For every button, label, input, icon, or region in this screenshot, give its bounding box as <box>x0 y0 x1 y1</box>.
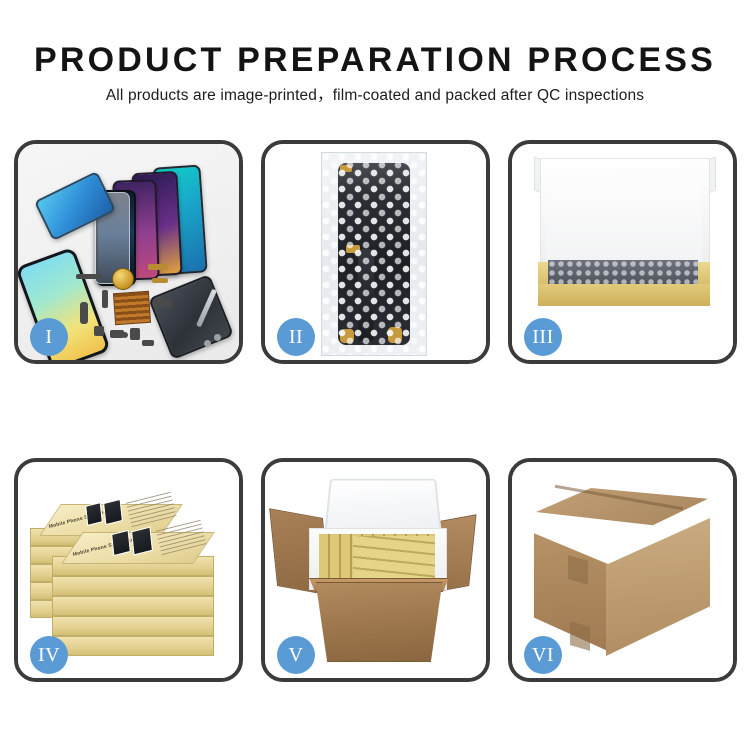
chip-array-illustration <box>113 291 151 325</box>
page-subtitle: All products are image-printed，film-coat… <box>0 79 750 105</box>
carton-right-face <box>606 518 710 656</box>
carton-tape-patch <box>570 621 590 651</box>
bubble-wrap-bag-illustration <box>321 152 427 356</box>
packed-boxes-illustration <box>353 536 435 578</box>
speaker-component-illustration <box>112 268 134 290</box>
foam-sheet-illustration <box>546 184 702 262</box>
process-step-panel-2: II <box>261 140 490 364</box>
step-badge-5: V <box>277 636 315 674</box>
step-badge-4: IV <box>30 636 68 674</box>
process-step-panel-4: Mobile Phone Spare Parts Mobile Phone Sp… <box>14 458 243 682</box>
carton-body-illustration <box>307 582 451 662</box>
stacked-boxes-illustration: Mobile Phone Spare Parts Mobile Phone Sp… <box>28 482 228 662</box>
yellow-box-front-illustration <box>538 284 710 306</box>
step-badge-3: III <box>524 318 562 356</box>
bubble-wrapped-contents-illustration <box>548 260 698 286</box>
step-badge-2: II <box>277 318 315 356</box>
page-title: PRODUCT PREPARATION PROCESS <box>0 0 750 79</box>
step-badge-1: I <box>30 318 68 356</box>
page-header: PRODUCT PREPARATION PROCESS All products… <box>0 0 750 128</box>
process-step-panel-1: I <box>14 140 243 364</box>
bubble-texture <box>322 153 426 355</box>
step-badge-6: VI <box>524 636 562 674</box>
process-step-panel-6: VI <box>508 458 737 682</box>
process-step-grid: I II <box>14 140 736 682</box>
process-step-panel-5: V <box>261 458 490 682</box>
process-step-panel-3: III <box>508 140 737 364</box>
